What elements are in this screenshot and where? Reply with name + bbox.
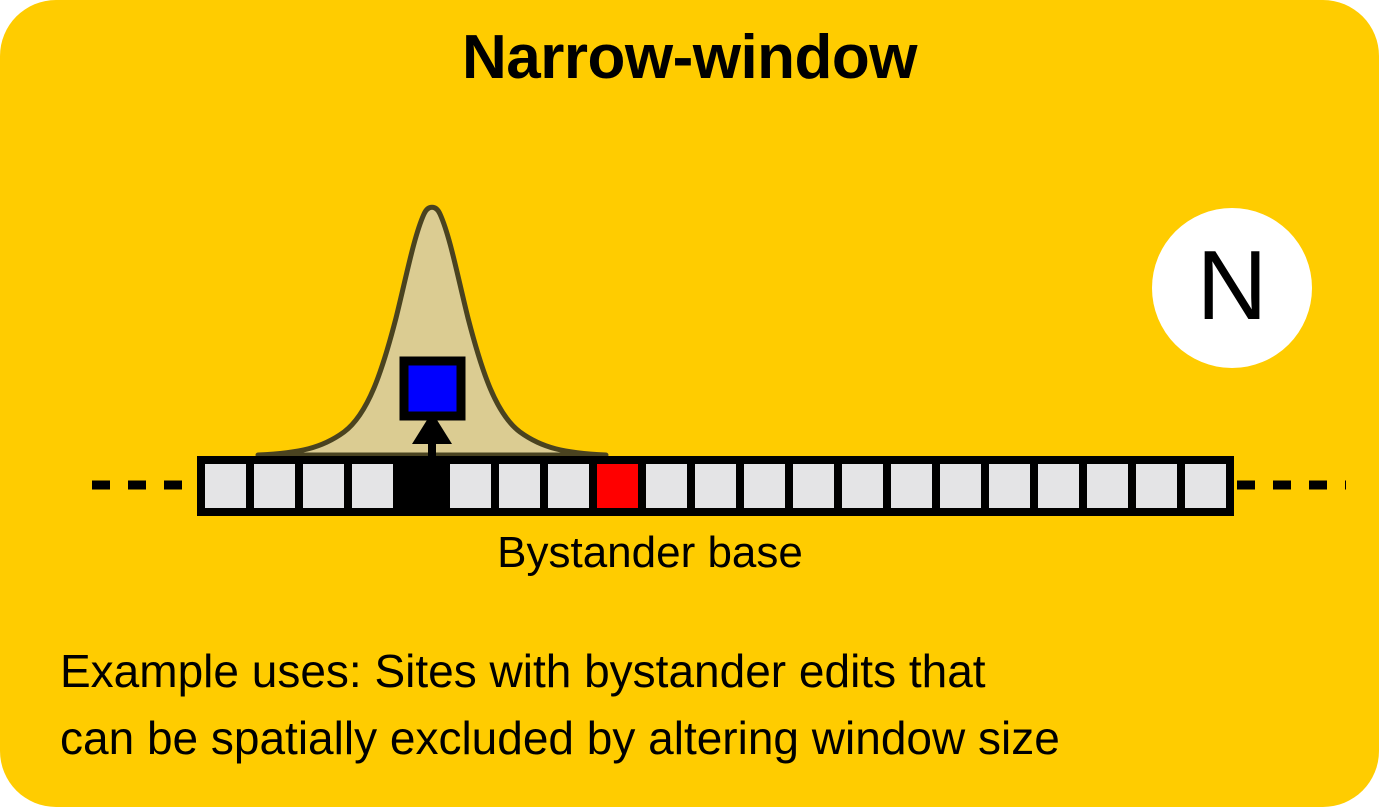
sequence-cell xyxy=(446,460,495,512)
caption-line-2: can be spatially excluded by altering wi… xyxy=(60,705,1320,772)
sequence-strip xyxy=(201,460,1230,512)
narrow-window-card: Narrow-window N Bystander base Example u… xyxy=(0,0,1379,807)
sequence-cell xyxy=(740,460,789,512)
sequence-cell xyxy=(642,460,691,512)
sequence-cell xyxy=(838,460,887,512)
sequence-cell xyxy=(936,460,985,512)
caption-line-1: Example uses: Sites with bystander edits… xyxy=(60,638,1320,705)
sequence-cell xyxy=(789,460,838,512)
sequence-cell xyxy=(593,460,642,512)
sequence-cell xyxy=(1083,460,1132,512)
sequence-cell xyxy=(1181,460,1230,512)
bystander-base-label: Bystander base xyxy=(380,528,920,578)
sequence-cell xyxy=(348,460,397,512)
sequence-cell xyxy=(1034,460,1083,512)
sequence-cell xyxy=(544,460,593,512)
sequence-cell xyxy=(250,460,299,512)
bystander-edit-square xyxy=(404,361,461,416)
sequence-cell xyxy=(887,460,936,512)
sequence-cell xyxy=(691,460,740,512)
sequence-cell xyxy=(985,460,1034,512)
sequence-cell xyxy=(495,460,544,512)
sequence-cell xyxy=(397,460,446,512)
sequence-cell xyxy=(1132,460,1181,512)
sequence-cell xyxy=(299,460,348,512)
sequence-cell xyxy=(201,460,250,512)
caption-block: Example uses: Sites with bystander edits… xyxy=(60,638,1320,771)
